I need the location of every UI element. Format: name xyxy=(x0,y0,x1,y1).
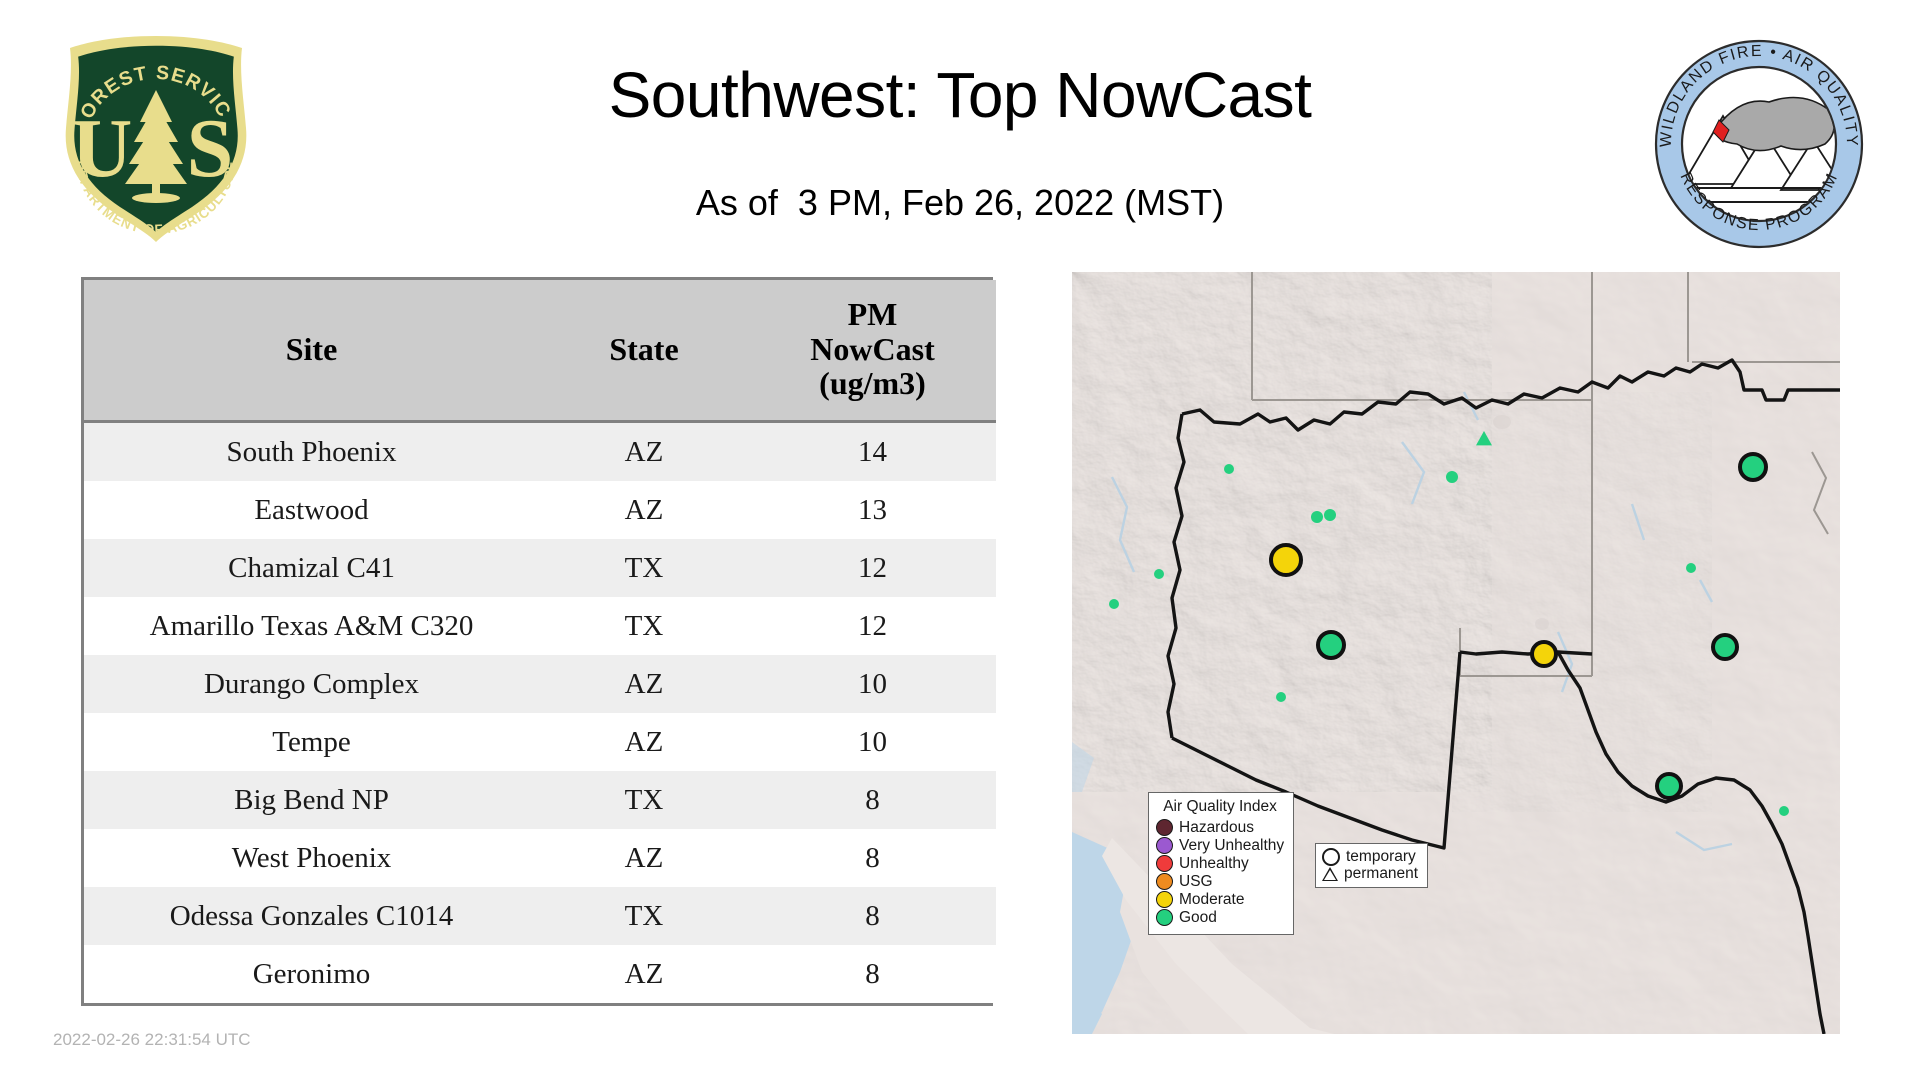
cell-site: West Phoenix xyxy=(84,829,539,887)
top-nowcast-table-container: Site State PM NowCast (ug/m3) South Phoe… xyxy=(81,277,993,1006)
table-body: South PhoenixAZ14EastwoodAZ13Chamizal C4… xyxy=(84,422,996,1004)
triangle-outline-icon xyxy=(1322,867,1338,881)
site-type-legend: temporary permanent xyxy=(1315,843,1428,888)
map-marker-small-site-d[interactable] xyxy=(1276,692,1286,702)
map-relief-west xyxy=(1072,272,1492,792)
table-row: South PhoenixAZ14 xyxy=(84,422,996,482)
map-relief-central xyxy=(1452,392,1712,812)
table-row: Odessa Gonzales C1014TX8 xyxy=(84,887,996,945)
aqi-swatch-hazardous-icon xyxy=(1156,819,1173,836)
column-header-site: Site xyxy=(84,280,539,422)
map-marker-small-site-c[interactable] xyxy=(1109,599,1119,609)
aqi-legend-row: Hazardous xyxy=(1156,819,1284,836)
cell-site: Geronimo xyxy=(84,945,539,1003)
column-header-pm-line2: NowCast xyxy=(753,332,992,367)
cell-pm-nowcast: 8 xyxy=(749,829,996,887)
map-marker-small-site-a[interactable] xyxy=(1224,464,1234,474)
cell-site: Durango Complex xyxy=(84,655,539,713)
aqi-legend-label: Hazardous xyxy=(1179,820,1254,836)
cell-state: TX xyxy=(539,539,749,597)
cell-pm-nowcast: 12 xyxy=(749,597,996,655)
column-header-pm-line1: PM xyxy=(753,297,992,332)
table-row: GeronimoAZ8 xyxy=(84,945,996,1003)
site-type-permanent-label: permanent xyxy=(1344,866,1418,882)
slide-root: FOREST SERVICE U S DEPARTMENT OF AGRICUL… xyxy=(0,0,1920,1080)
cell-site: Tempe xyxy=(84,713,539,771)
cell-site: Big Bend NP xyxy=(84,771,539,829)
column-header-state: State xyxy=(539,280,749,422)
site-type-permanent-row: permanent xyxy=(1322,866,1418,882)
cell-state: TX xyxy=(539,771,749,829)
map-marker-small-site-h[interactable] xyxy=(1779,806,1789,816)
cell-state: AZ xyxy=(539,945,749,1003)
cell-pm-nowcast: 12 xyxy=(749,539,996,597)
cell-state: TX xyxy=(539,887,749,945)
aqi-legend-row: Very Unhealthy xyxy=(1156,837,1284,854)
cell-pm-nowcast: 10 xyxy=(749,655,996,713)
cell-state: AZ xyxy=(539,713,749,771)
page-title: Southwest: Top NowCast xyxy=(0,58,1920,132)
cell-site: Odessa Gonzales C1014 xyxy=(84,887,539,945)
cell-site: Eastwood xyxy=(84,481,539,539)
map-marker-small-site-b[interactable] xyxy=(1154,569,1164,579)
generation-timestamp: 2022-02-26 22:31:54 UTC xyxy=(53,1030,251,1050)
map-marker-small-site-g[interactable] xyxy=(1446,471,1458,483)
aqi-legend-label: USG xyxy=(1179,874,1213,890)
top-nowcast-table: Site State PM NowCast (ug/m3) South Phoe… xyxy=(84,280,996,1003)
map-marker-small-site-f[interactable] xyxy=(1324,509,1336,521)
aqi-legend-title: Air Quality Index xyxy=(1156,798,1284,816)
site-type-temporary-row: temporary xyxy=(1322,848,1418,866)
southwest-air-quality-map[interactable]: Air Quality Index HazardousVery Unhealth… xyxy=(1072,272,1840,1034)
column-header-site-label: Site xyxy=(286,331,338,367)
page-subtitle: As of 3 PM, Feb 26, 2022 (MST) xyxy=(0,182,1920,224)
cell-pm-nowcast: 8 xyxy=(749,887,996,945)
cell-state: AZ xyxy=(539,829,749,887)
aqi-swatch-very-unhealthy-icon xyxy=(1156,837,1173,854)
table-row: TempeAZ10 xyxy=(84,713,996,771)
aqi-legend-row: Moderate xyxy=(1156,891,1284,908)
aqi-legend-row: Good xyxy=(1156,909,1284,926)
table-row: Durango ComplexAZ10 xyxy=(84,655,996,713)
table-row: EastwoodAZ13 xyxy=(84,481,996,539)
table-header-row: Site State PM NowCast (ug/m3) xyxy=(84,280,996,422)
cell-state: AZ xyxy=(539,481,749,539)
cell-state: AZ xyxy=(539,422,749,482)
cell-pm-nowcast: 10 xyxy=(749,713,996,771)
air-quality-index-legend: Air Quality Index HazardousVery Unhealth… xyxy=(1148,792,1294,935)
map-marker-small-site-e[interactable] xyxy=(1311,511,1323,523)
column-header-state-label: State xyxy=(609,331,678,367)
aqi-legend-row: Unhealthy xyxy=(1156,855,1284,872)
table-row: Chamizal C41TX12 xyxy=(84,539,996,597)
map-marker-phoenix-cluster[interactable] xyxy=(1271,545,1301,575)
site-type-temporary-label: temporary xyxy=(1346,849,1416,865)
aqi-swatch-usg-icon xyxy=(1156,873,1173,890)
aqi-swatch-unhealthy-icon xyxy=(1156,855,1173,872)
aqi-legend-label: Very Unhealthy xyxy=(1179,838,1284,854)
map-marker-small-site-i[interactable] xyxy=(1686,563,1696,573)
map-marker-amarillo-site[interactable] xyxy=(1740,454,1766,480)
cell-site: Amarillo Texas A&M C320 xyxy=(84,597,539,655)
cell-pm-nowcast: 13 xyxy=(749,481,996,539)
map-marker-el-paso-site[interactable] xyxy=(1532,642,1556,666)
table-row: West PhoenixAZ8 xyxy=(84,829,996,887)
wfaqrp-circle-icon: WILDLAND FIRE • AIR QUALITY RESPONSE PRO… xyxy=(1653,38,1865,250)
aqi-legend-label: Moderate xyxy=(1179,892,1244,908)
cell-site: Chamizal C41 xyxy=(84,539,539,597)
cell-pm-nowcast: 14 xyxy=(749,422,996,482)
table-header: Site State PM NowCast (ug/m3) xyxy=(84,280,996,422)
circle-outline-icon xyxy=(1322,848,1340,866)
aqi-legend-items: HazardousVery UnhealthyUnhealthyUSGModer… xyxy=(1156,819,1284,926)
column-header-pm-nowcast: PM NowCast (ug/m3) xyxy=(749,280,996,422)
table-row: Big Bend NPTX8 xyxy=(84,771,996,829)
wildland-fire-air-quality-logo: WILDLAND FIRE • AIR QUALITY RESPONSE PRO… xyxy=(1653,38,1865,250)
cell-site: South Phoenix xyxy=(84,422,539,482)
map-marker-big-bend-site[interactable] xyxy=(1657,774,1681,798)
table-row: Amarillo Texas A&M C320TX12 xyxy=(84,597,996,655)
column-header-pm-line3: (ug/m3) xyxy=(753,366,992,401)
aqi-swatch-moderate-icon xyxy=(1156,891,1173,908)
aqi-swatch-good-icon xyxy=(1156,909,1173,926)
cell-state: AZ xyxy=(539,655,749,713)
cell-state: TX xyxy=(539,597,749,655)
cell-pm-nowcast: 8 xyxy=(749,945,996,1003)
map-marker-tucson-site[interactable] xyxy=(1318,632,1344,658)
aqi-legend-label: Good xyxy=(1179,910,1217,926)
aqi-legend-label: Unhealthy xyxy=(1179,856,1249,872)
map-marker-odessa-site[interactable] xyxy=(1713,635,1737,659)
cell-pm-nowcast: 8 xyxy=(749,771,996,829)
aqi-legend-row: USG xyxy=(1156,873,1284,890)
